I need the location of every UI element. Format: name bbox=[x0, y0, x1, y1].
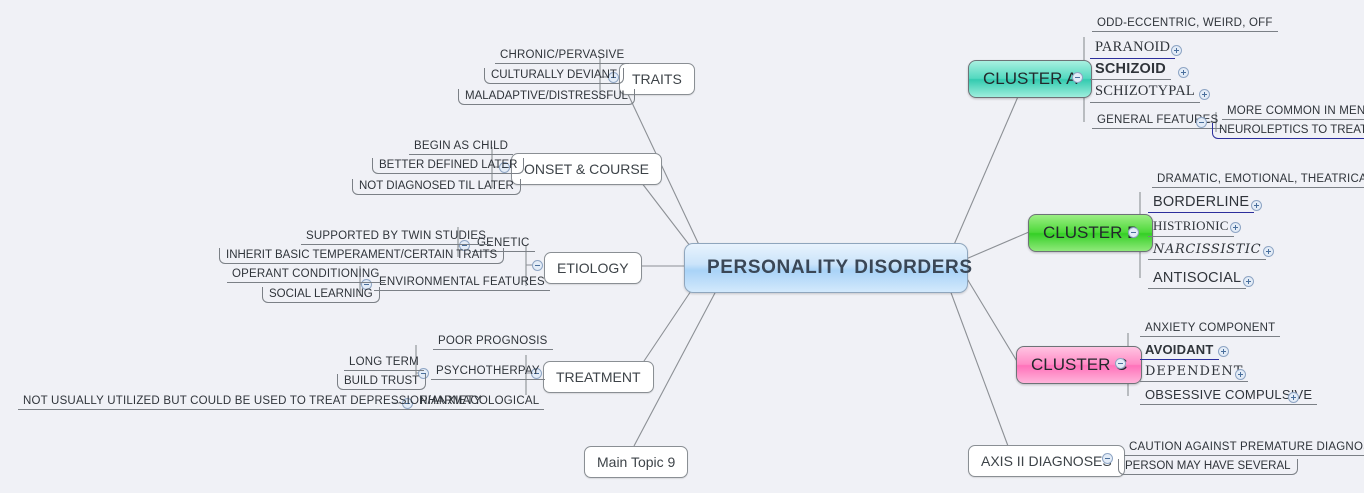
leaf-begin-as-child[interactable]: BEGIN AS CHILD bbox=[409, 139, 513, 155]
subtopic-environmental-features[interactable]: ENVIRONMENTAL FEATURES bbox=[374, 275, 550, 291]
leaf-neuroleptics-to-treat[interactable]: NEUROLEPTICS TO TREAT bbox=[1212, 123, 1364, 139]
leaf-dramatic-emotional[interactable]: DRAMATIC, EMOTIONAL, THEATRICAL bbox=[1152, 172, 1364, 188]
leaf-better-defined-later[interactable]: BETTER DEFINED LATER bbox=[372, 158, 524, 174]
subtopic-psychotherapy[interactable]: PSYCHOTHERPAY bbox=[431, 364, 545, 380]
plus-circle-icon-narcissistic[interactable] bbox=[1263, 246, 1274, 257]
minus-circle-icon-general-features[interactable] bbox=[1196, 117, 1207, 128]
plus-circle-icon-paranoid[interactable] bbox=[1171, 45, 1182, 56]
leaf-not-usually-utilized[interactable]: NOT USUALLY UTILIZED BUT COULD BE USED T… bbox=[18, 394, 487, 410]
topic-main-topic-9[interactable]: Main Topic 9 bbox=[584, 446, 688, 478]
minus-circle-icon-cluster-b[interactable] bbox=[1128, 227, 1139, 238]
leaf-more-common-in-men[interactable]: MORE COMMON IN MEN bbox=[1222, 104, 1364, 120]
leaf-odd-eccentric[interactable]: ODD-ECCENTRIC, WEIRD, OFF bbox=[1092, 16, 1278, 32]
leaf-long-term[interactable]: LONG TERM bbox=[344, 355, 424, 371]
leaf-anxiety-component[interactable]: ANXIETY COMPONENT bbox=[1140, 321, 1280, 337]
leaf-dependent[interactable]: DEPENDENT bbox=[1140, 363, 1248, 382]
leaf-person-may-have-several[interactable]: PERSON MAY HAVE SEVERAL bbox=[1118, 459, 1298, 475]
root-node[interactable]: PERSONALITY DISORDERS bbox=[684, 243, 968, 293]
plus-circle-icon-antisocial[interactable] bbox=[1243, 276, 1254, 287]
leaf-chronic-pervasive[interactable]: CHRONIC/PERVASIVE bbox=[495, 48, 629, 64]
leaf-borderline[interactable]: BORDERLINE bbox=[1148, 193, 1254, 213]
leaf-inherit-basic-temperament[interactable]: INHERIT BASIC TEMPERAMENT/CERTAIN TRAITS bbox=[219, 248, 504, 264]
plus-circle-icon-schizoid[interactable] bbox=[1178, 67, 1189, 78]
mindmap-canvas: PERSONALITY DISORDERS TRAITS CHRONIC/PER… bbox=[0, 0, 1364, 493]
leaf-supported-by-twin-studies[interactable]: SUPPORTED BY TWIN STUDIES bbox=[301, 229, 491, 245]
leaf-schizoid[interactable]: SCHIZOID bbox=[1090, 60, 1171, 80]
minus-circle-icon-cluster-a[interactable] bbox=[1072, 72, 1083, 83]
topic-onset-course[interactable]: ONSET & COURSE bbox=[511, 153, 662, 185]
leaf-not-diagnosed-til-later[interactable]: NOT DIAGNOSED TIL LATER bbox=[352, 179, 521, 195]
leaf-histrionic[interactable]: HISTRIONIC bbox=[1148, 217, 1234, 237]
plus-circle-icon-histrionic[interactable] bbox=[1230, 222, 1241, 233]
leaf-schizotypal[interactable]: SCHIZOTYPAL bbox=[1090, 82, 1200, 103]
plus-circle-icon-avoidant[interactable] bbox=[1218, 346, 1229, 357]
topic-treatment[interactable]: TREATMENT bbox=[543, 361, 654, 393]
leaf-antisocial[interactable]: ANTISOCIAL bbox=[1148, 269, 1246, 289]
leaf-poor-prognosis[interactable]: POOR PROGNOSIS bbox=[433, 334, 553, 350]
leaf-social-learning[interactable]: SOCIAL LEARNING bbox=[262, 287, 380, 303]
leaf-operant-conditioning[interactable]: OPERANT CONDITIONING bbox=[227, 267, 385, 283]
topic-axis-ii-diagnoses[interactable]: AXIS II DIAGNOSES bbox=[968, 445, 1125, 477]
leaf-paranoid[interactable]: PARANOID bbox=[1090, 38, 1175, 59]
plus-circle-icon-dependent[interactable] bbox=[1235, 369, 1246, 380]
leaf-maladaptive-distressful[interactable]: MALADAPTIVE/DISTRESSFUL bbox=[458, 89, 635, 105]
leaf-caution-against-premature[interactable]: CAUTION AGAINST PREMATURE DIAGNOSIS bbox=[1124, 440, 1364, 456]
leaf-build-trust[interactable]: BUILD TRUST bbox=[337, 374, 426, 390]
minus-circle-icon-cluster-c[interactable] bbox=[1115, 358, 1126, 369]
minus-circle-icon-etiology[interactable] bbox=[532, 260, 543, 271]
leaf-avoidant[interactable]: AVOIDANT bbox=[1140, 341, 1219, 360]
topic-etiology[interactable]: ETIOLOGY bbox=[544, 252, 642, 284]
plus-circle-icon-borderline[interactable] bbox=[1251, 200, 1262, 211]
leaf-narcissistic[interactable]: NARCISSISTIC bbox=[1148, 241, 1266, 260]
leaf-culturally-deviant[interactable]: CULTURALLY DEVIANT bbox=[484, 68, 624, 84]
plus-circle-icon-obsessive-compulsive[interactable] bbox=[1288, 392, 1299, 403]
plus-circle-icon-schizotypal[interactable] bbox=[1199, 89, 1210, 100]
minus-circle-icon-axis-ii[interactable] bbox=[1102, 453, 1113, 464]
